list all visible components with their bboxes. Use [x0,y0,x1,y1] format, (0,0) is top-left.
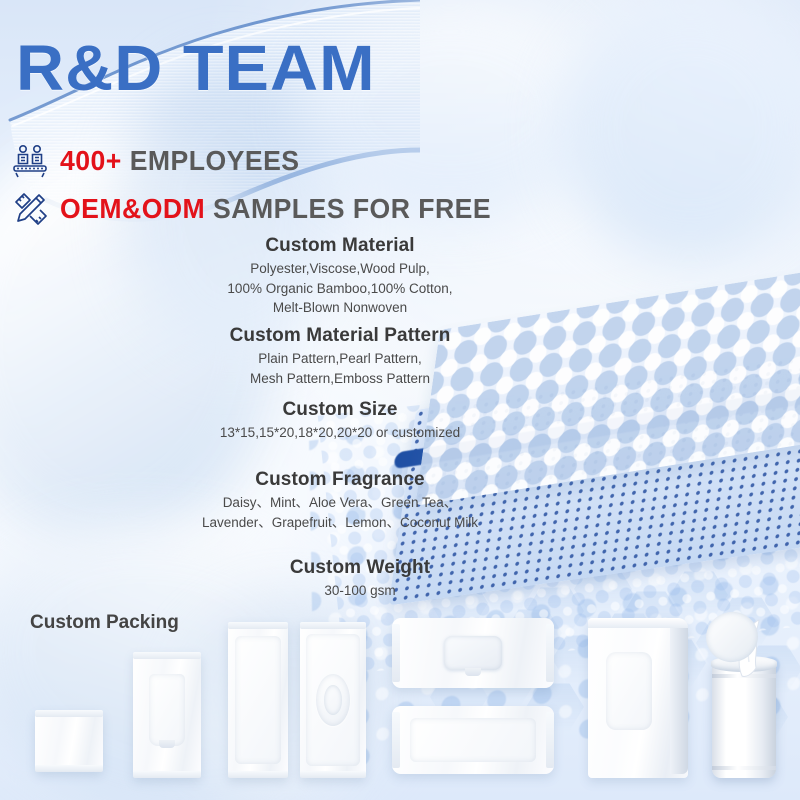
spec-custom-material: Custom Material Polyester,Viscose,Wood P… [190,234,490,317]
package-seam [35,710,103,717]
package-seam [133,652,201,659]
badge-employees: 400+ EMPLOYEES [10,142,312,180]
package-seam [392,624,400,682]
spec-heading: Custom Fragrance [190,468,490,492]
package-tall-pouch-with-flap [133,652,201,778]
badge-employees-label: EMPLOYEES [130,145,300,176]
badge-samples-text: OEM&ODM SAMPLES FOR FREE [60,193,491,225]
plastic-dispenser-lid[interactable] [444,636,502,670]
spec-custom-material-pattern: Custom Material Pattern Plain Pattern,Pe… [190,324,490,387]
spec-heading: Custom Material Pattern [190,324,490,348]
factory-workers-icon [10,142,50,180]
package-seam [35,765,103,772]
badge-employees-text: 400+ EMPLOYEES [60,145,300,177]
spec-line: 13*15,15*20,18*20,20*20 or customized [190,424,490,442]
spec-line: Plain Pattern,Pearl Pattern, [190,350,490,368]
package-oval-opening [316,674,350,726]
spec-line: 100% Organic Bamboo,100% Cotton, [190,280,490,298]
package-single-sachet [35,710,103,772]
pencil-ruler-icon [10,190,50,228]
spec-custom-size: Custom Size 13*15,15*20,18*20,20*20 or c… [190,398,490,442]
custom-packing-label: Custom Packing [30,612,179,634]
package-seam [228,622,288,629]
package-flat-pack-plain [228,622,288,778]
package-face-panel [410,718,536,762]
background-blob [560,0,800,260]
package-body [35,710,103,772]
package-seam [300,622,366,629]
oval-inner-ring [324,685,342,714]
package-seam [228,771,288,778]
package-face-panel [235,636,281,764]
spec-line: 30-100 gsm [230,582,490,600]
package-face-panel [606,652,652,730]
package-flat-pack-oval-opening [300,622,366,778]
spec-line: Daisy、Mint、Aloe Vera、Green Tea、 [190,494,490,512]
spec-line: Polyester,Viscose,Wood Pulp, [190,260,490,278]
badge-samples-highlight: OEM&ODM [60,193,205,224]
spec-custom-weight: Custom Weight 30-100 gsm [230,556,490,600]
poster-canvas: R&D TEAM 400+ EMPLOYEES [0,0,800,800]
lid-latch-tab[interactable] [465,668,481,676]
package-seam [546,712,554,768]
spec-line: Melt-Blown Nonwoven [190,299,490,317]
page-title: R&D TEAM [16,36,376,100]
package-seam [392,712,400,768]
canister-ring [712,766,776,770]
package-stand-up-pouch [588,618,688,778]
package-wipes-pack-with-plastic-lid [392,618,554,688]
pouch-side-gusset [670,622,688,774]
spec-heading: Custom Weight [230,556,490,580]
badge-employees-highlight: 400+ [60,145,122,176]
package-flap-tab [159,740,175,748]
package-wipes-pack-flat [392,706,554,774]
spec-custom-fragrance: Custom Fragrance Daisy、Mint、Aloe Vera、Gr… [190,468,490,531]
spec-line: Mesh Pattern,Emboss Pattern [190,370,490,388]
package-flap-panel [149,674,185,746]
package-seam [133,771,201,778]
spec-heading: Custom Size [190,398,490,422]
pouch-top-fold [588,618,688,628]
package-wipes-canister [712,640,776,778]
badge-samples: OEM&ODM SAMPLES FOR FREE [10,190,514,228]
spec-line: Lavender、Grapefruit、Lemon、Coconut Milk [190,514,490,532]
package-seam [300,771,366,778]
spec-heading: Custom Material [190,234,490,258]
badge-samples-label: SAMPLES FOR FREE [213,193,491,224]
package-seam [546,624,554,682]
